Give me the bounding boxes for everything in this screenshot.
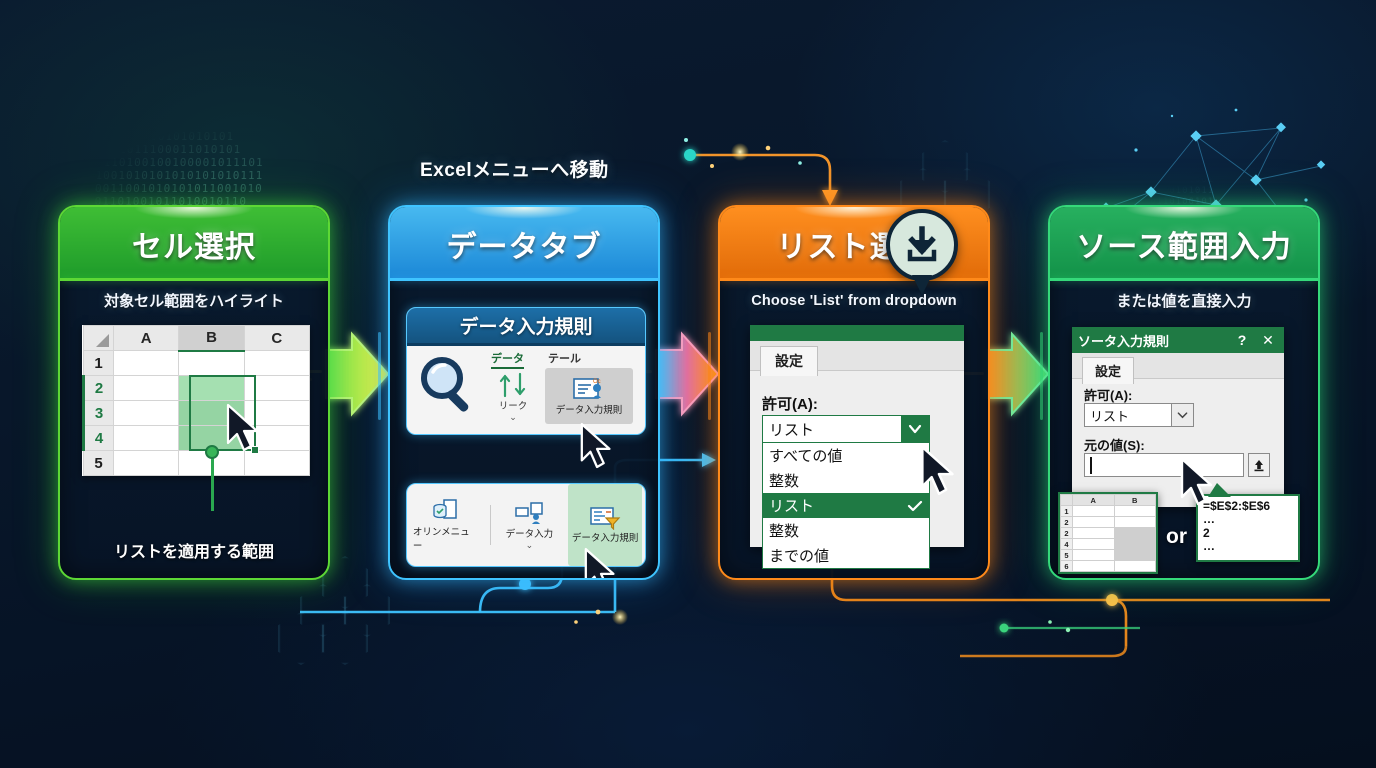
step-panel-data-tab[interactable]: データタブ データ入力規則 データ テール bbox=[388, 205, 660, 580]
mini-corner bbox=[1061, 495, 1073, 506]
col-header-c[interactable]: C bbox=[244, 326, 309, 351]
dropdown-option-2[interactable]: リスト bbox=[763, 493, 929, 518]
cell-a3[interactable] bbox=[114, 401, 179, 426]
range-picker-button[interactable] bbox=[1248, 453, 1270, 477]
help-icon[interactable]: ? bbox=[1232, 332, 1252, 348]
grid-corner bbox=[84, 326, 114, 351]
sort-updown-icon bbox=[496, 372, 530, 398]
chevron-down-icon-combo[interactable] bbox=[901, 416, 929, 442]
step2-title: データタブ bbox=[447, 222, 602, 266]
check-icon bbox=[907, 500, 923, 512]
allow-combobox-value: リスト bbox=[763, 419, 901, 440]
ribbon-b-item-2[interactable]: データ入力規則 bbox=[568, 484, 642, 566]
ribbon-b-label-1: データ入力 bbox=[506, 526, 554, 540]
ribbon-b-item-0[interactable]: オリンメニュー bbox=[410, 496, 482, 554]
sort-group[interactable]: リーク ⌄ bbox=[485, 372, 541, 423]
step1-title: セル選択 bbox=[132, 222, 256, 266]
ribbon-card-secondary[interactable]: オリンメニュー データ入力 ⌄ bbox=[406, 483, 646, 567]
dialog-tabbar-step4[interactable]: 設定 bbox=[1072, 353, 1284, 379]
top-route-label: Excelメニューへ移動 bbox=[420, 155, 609, 182]
mini-cell-b1[interactable] bbox=[1114, 506, 1156, 517]
row-header-4[interactable]: 4 bbox=[84, 426, 114, 451]
chevron-down-icon-step4[interactable] bbox=[1171, 404, 1193, 426]
row-header-2[interactable]: 2 bbox=[84, 376, 114, 401]
ribbon-tabs[interactable]: データ テール bbox=[491, 350, 581, 369]
validation-dialog-step3[interactable]: 設定 許可(A): リスト すべての値 整数 リスト 整数 までの値 bbox=[750, 325, 964, 547]
step4-subtitle: または値を直接入力 bbox=[1058, 293, 1310, 311]
cell-a2[interactable] bbox=[114, 376, 179, 401]
cell-c1[interactable] bbox=[244, 351, 309, 376]
allow-label-step4: 許可(A): bbox=[1084, 385, 1132, 404]
cell-c5[interactable] bbox=[244, 451, 309, 476]
row-header-3[interactable]: 3 bbox=[84, 401, 114, 426]
arrow-step3-to-step4 bbox=[988, 334, 1048, 414]
mini-cell-a4[interactable] bbox=[1073, 539, 1115, 550]
row-header-5[interactable]: 5 bbox=[84, 451, 114, 476]
allow-combobox[interactable]: リスト bbox=[762, 415, 930, 443]
source-input[interactable] bbox=[1084, 453, 1244, 477]
mini-cell-a3[interactable] bbox=[1073, 528, 1115, 539]
mini-spreadsheet[interactable]: A B 1 2 2 4 5 6 bbox=[1058, 492, 1158, 574]
step1-caption: リストを適用する範囲 bbox=[72, 538, 316, 562]
mini-row-4: 5 bbox=[1061, 550, 1073, 561]
validation-dialog-step4[interactable]: ソータ入力規則 ? ✕ 設定 許可(A): リスト 元の値(S): bbox=[1072, 327, 1284, 507]
download-badge bbox=[886, 209, 958, 281]
mini-cell-b5[interactable] bbox=[1114, 550, 1156, 561]
dialog-tab-settings[interactable]: 設定 bbox=[760, 346, 818, 376]
ribbon-divider bbox=[490, 505, 491, 545]
mini-row-0: 1 bbox=[1061, 506, 1073, 517]
text-caret bbox=[1090, 457, 1092, 474]
dialog-title-text: ソータ入力規則 bbox=[1078, 331, 1226, 350]
download-icon bbox=[902, 225, 942, 265]
tooltip-line-0: =$E$2:$E$6 bbox=[1203, 500, 1293, 513]
magnifier-icon bbox=[415, 352, 479, 416]
mini-cell-b2[interactable] bbox=[1114, 517, 1156, 528]
cell-c3[interactable] bbox=[244, 401, 309, 426]
ribbon-b-label-0: オリンメニュー bbox=[413, 524, 479, 552]
ribbon-b-item-1[interactable]: データ入力 ⌄ bbox=[498, 498, 560, 553]
mini-cell-b3[interactable] bbox=[1114, 528, 1156, 539]
dropdown-option-label-3: 整数 bbox=[769, 520, 799, 541]
mini-cell-a2[interactable] bbox=[1073, 517, 1115, 528]
step2-header: データタブ bbox=[390, 207, 658, 281]
dialog-titlebar-step4: ソータ入力規則 ? ✕ bbox=[1072, 327, 1284, 353]
tooltip-line-2: 2 bbox=[1203, 527, 1293, 540]
dropdown-option-label-1: 整数 bbox=[769, 470, 799, 491]
step1-header: セル選択 bbox=[60, 207, 328, 281]
mini-col-b: B bbox=[1114, 495, 1156, 506]
dropdown-option-3[interactable]: 整数 bbox=[763, 518, 929, 543]
mini-cell-b6[interactable] bbox=[1114, 561, 1156, 572]
step-panel-list-selection[interactable]: リスト選択 Choose 'List' from dropdown 設定 許可(… bbox=[718, 205, 990, 580]
ribbon-b-label-2: データ入力規則 bbox=[572, 530, 639, 544]
mini-cell-a1[interactable] bbox=[1073, 506, 1115, 517]
step-panel-cell-selection[interactable]: セル選択 対象セル範囲をハイライト A B C 1 2 bbox=[58, 205, 330, 580]
mini-col-a: A bbox=[1073, 495, 1115, 506]
dropdown-option-label-0: すべての値 bbox=[769, 445, 842, 466]
ribbon-tab-tool[interactable]: テール bbox=[548, 350, 581, 369]
allow-label: 許可(A): bbox=[762, 393, 818, 414]
dropdown-option-label-4: までの値 bbox=[769, 545, 829, 566]
cell-b2[interactable] bbox=[179, 376, 244, 401]
arrow-step2-to-step3 bbox=[656, 334, 718, 414]
step-panel-source-range[interactable]: ソース範囲入力 または値を直接入力 ソータ入力規則 ? ✕ 設定 許可(A): … bbox=[1048, 205, 1320, 580]
dropdown-option-1[interactable]: 整数 bbox=[763, 468, 929, 493]
excel-grid[interactable]: A B C 1 2 3 4 bbox=[82, 325, 310, 476]
ribbon-tab-data[interactable]: データ bbox=[491, 350, 524, 369]
dialog-tab-settings-step4[interactable]: 設定 bbox=[1082, 357, 1134, 384]
step4-header: ソース範囲入力 bbox=[1050, 207, 1318, 281]
mini-cell-b4[interactable] bbox=[1114, 539, 1156, 550]
svg-text:Oc: Oc bbox=[593, 379, 601, 385]
mini-row-3: 4 bbox=[1061, 539, 1073, 550]
step4-title: ソース範囲入力 bbox=[1076, 222, 1292, 266]
callout-anchor-dot bbox=[205, 445, 219, 459]
cell-b1[interactable] bbox=[179, 351, 244, 376]
cell-b3[interactable] bbox=[179, 401, 244, 426]
close-icon[interactable]: ✕ bbox=[1258, 332, 1278, 349]
allow-combobox-value-step4: リスト bbox=[1085, 406, 1171, 425]
chevron-down-icon-b[interactable]: ⌄ bbox=[526, 540, 534, 551]
dialog-titlebar bbox=[750, 325, 964, 341]
mini-cell-a6[interactable] bbox=[1073, 561, 1115, 572]
cell-c4[interactable] bbox=[244, 426, 309, 451]
tooltip-line-1: … bbox=[1203, 513, 1293, 526]
dropdown-option-4[interactable]: までの値 bbox=[763, 543, 929, 568]
data-source-icon bbox=[430, 498, 462, 524]
dropdown-option-0[interactable]: すべての値 bbox=[763, 443, 929, 468]
sort-label: リーク bbox=[499, 398, 528, 412]
data-validation-button[interactable]: Oc データ入力規則 bbox=[545, 368, 633, 424]
data-validation-filter-icon bbox=[589, 506, 621, 530]
ribbon-body: データ テール リーク ⌄ bbox=[407, 346, 645, 434]
mini-row-1: 2 bbox=[1061, 517, 1073, 528]
infographic-canvas: 001011100101010101 1101011100011010101 0… bbox=[0, 0, 1376, 768]
source-label: 元の値(S): bbox=[1084, 435, 1145, 454]
dropdown-option-label-2: リスト bbox=[769, 495, 814, 516]
tooltip-line-3: … bbox=[1203, 540, 1293, 553]
ribbon-card-primary[interactable]: データ入力規則 データ テール リーク ⌄ bbox=[406, 307, 646, 435]
arrow-step1-to-step2 bbox=[326, 334, 388, 414]
cell-a1[interactable] bbox=[114, 351, 179, 376]
callout-line bbox=[211, 453, 214, 511]
dialog-tabbar[interactable]: 設定 bbox=[750, 341, 964, 371]
data-entry-icon bbox=[513, 500, 545, 526]
ribbon-b-row: オリンメニュー データ入力 ⌄ bbox=[407, 484, 645, 566]
allow-combobox-step4[interactable]: リスト bbox=[1084, 403, 1194, 427]
cell-c2[interactable] bbox=[244, 376, 309, 401]
row-header-1[interactable]: 1 bbox=[84, 351, 114, 376]
col-header-b[interactable]: B bbox=[179, 326, 244, 351]
chevron-down-icon[interactable]: ⌄ bbox=[509, 412, 517, 423]
data-validation-icon: Oc bbox=[572, 376, 606, 402]
or-label: or bbox=[1166, 525, 1187, 549]
step3-subtitle: Choose 'List' from dropdown bbox=[728, 293, 980, 310]
cell-a4[interactable] bbox=[114, 426, 179, 451]
network-graphic bbox=[1076, 70, 1366, 220]
step1-subtitle: 対象セル範囲をハイライト bbox=[68, 293, 320, 311]
ribbon-card-header: データ入力規則 bbox=[407, 308, 645, 346]
mini-row-2: 2 bbox=[1061, 528, 1073, 539]
range-picker-icon bbox=[1253, 458, 1265, 472]
col-header-a[interactable]: A bbox=[114, 326, 179, 351]
data-validation-button-label: データ入力規則 bbox=[556, 402, 623, 416]
allow-dropdown-list[interactable]: すべての値 整数 リスト 整数 までの値 bbox=[762, 443, 930, 569]
source-value-tooltip: =$E$2:$E$6 … 2 … bbox=[1196, 494, 1300, 562]
mini-cell-a5[interactable] bbox=[1073, 550, 1115, 561]
mini-row-5: 6 bbox=[1061, 561, 1073, 572]
cell-a5[interactable] bbox=[114, 451, 179, 476]
